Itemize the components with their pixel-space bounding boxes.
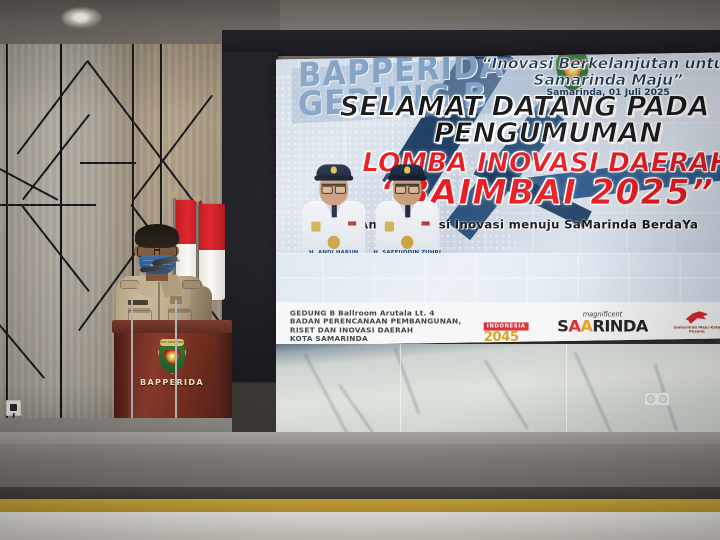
samarinda-rest: RINDA <box>592 316 647 335</box>
wall-batten <box>0 168 58 201</box>
portrait-medal <box>401 236 413 249</box>
indonesia-emas-logo: INDONESIA 2045 <box>484 312 529 344</box>
bird-icon <box>686 311 708 324</box>
portrait-mayor: H. ANDI HARUN WALI KOTA SAMARINDA <box>302 164 365 257</box>
portrait-cap <box>316 164 351 177</box>
wall-batten <box>80 162 136 164</box>
slide-logo-row: INDONESIA 2045 magnificent SAARINDA Sama… <box>484 308 720 341</box>
slide-date: Samarinda, 01 Juli 2025 <box>455 88 720 98</box>
slide-headline-line2: PENGUMUMAN <box>310 120 720 147</box>
marble-wall <box>276 344 720 444</box>
samarinda-wordmark: SAARINDA <box>557 316 648 335</box>
wall-batten <box>0 324 45 379</box>
slide-quote-line2: Samarinda Maju” <box>533 70 682 88</box>
wall-batten <box>16 61 88 155</box>
marble-seam <box>566 344 567 444</box>
speaker-epaulet-right <box>182 280 201 289</box>
screen-header-band <box>222 30 720 56</box>
spotlight-core <box>74 14 88 22</box>
speaker-hair <box>135 224 179 248</box>
photo-scene: BAPPERIDA GEDUNG B SELAMAT DATANG PADA P… <box>0 0 720 540</box>
portrait-tie <box>331 203 336 217</box>
glasses-bridge <box>154 249 160 251</box>
wall-seam <box>60 44 62 444</box>
emblem-scroll: KOTA SAMARINDA <box>160 339 184 346</box>
portrait-glasses-icon <box>322 184 346 192</box>
stage-front-face <box>0 444 720 492</box>
portrait-ribbon-bar <box>348 221 356 225</box>
wall-batten <box>22 114 90 200</box>
wall-batten <box>86 60 202 213</box>
portrait-tie <box>405 203 410 217</box>
podium-label: BAPPERIDA <box>128 378 216 387</box>
cap-emblem-icon <box>331 166 337 173</box>
portrait-cap <box>390 164 425 177</box>
portrait-badge <box>385 221 394 231</box>
portrait-uniform <box>376 201 439 257</box>
slide-quote: “Inovasi Berkelanjutan untuk Samarinda M… <box>455 55 720 88</box>
power-outlet-icon <box>644 392 670 406</box>
slide-portraits: H. ANDI HARUN WALI KOTA SAMARINDA <box>278 160 482 257</box>
marble-vein <box>304 354 348 434</box>
podium-side-right <box>216 325 232 431</box>
slide-footer: GEDUNG B Ballroom Arutala Lt. 4 BADAN PE… <box>276 302 720 345</box>
wall-seam <box>6 44 8 444</box>
flag-finial <box>194 195 201 202</box>
podium-emblem: KOTA SAMARINDA <box>158 342 186 374</box>
portrait-badge <box>311 221 320 231</box>
slide-quote-strip <box>276 253 720 302</box>
portrait-uniform <box>302 201 365 257</box>
slide-headline: SELAMAT DATANG PADA PENGUMUMAN <box>310 94 720 147</box>
marble-seam <box>400 344 401 444</box>
quote-grid <box>276 253 720 302</box>
samarinda-a2: A <box>580 316 592 335</box>
slide-footer-text: GEDUNG B Ballroom Arutala Lt. 4 BADAN PE… <box>290 309 462 343</box>
projection-screen: BAPPERIDA GEDUNG B SELAMAT DATANG PADA P… <box>276 53 720 346</box>
portrait-ribbon-bar <box>422 221 430 225</box>
wall-batten <box>132 95 213 202</box>
samarinda-a1: A <box>568 316 580 335</box>
podium-top-ledge <box>112 320 232 333</box>
indonesia-emas-year: 2045 <box>484 332 529 344</box>
marble-vein <box>395 348 420 414</box>
marble-vein <box>484 360 528 429</box>
floor-foreground <box>0 512 720 540</box>
wall-batten <box>20 204 89 292</box>
marble-vein <box>575 352 617 444</box>
cap-emblem-icon <box>404 166 410 173</box>
samarinda-city-logo: magnificent SAARINDA <box>557 310 648 336</box>
wall-batten <box>0 204 96 206</box>
kota-pesona-logo: Samarinda Maju Kota Pesona <box>669 311 720 334</box>
samarinda-s: S <box>557 316 568 335</box>
kota-pesona-caption: Samarinda Maju Kota Pesona <box>669 325 720 334</box>
portrait-vice-mayor: H. SAEFUDDIN ZUHRI WAKIL WALI KOTA SAMAR… <box>376 164 439 257</box>
portrait-medal <box>328 236 340 249</box>
portrait-glasses-icon <box>395 184 419 192</box>
flag-finial <box>171 191 178 198</box>
